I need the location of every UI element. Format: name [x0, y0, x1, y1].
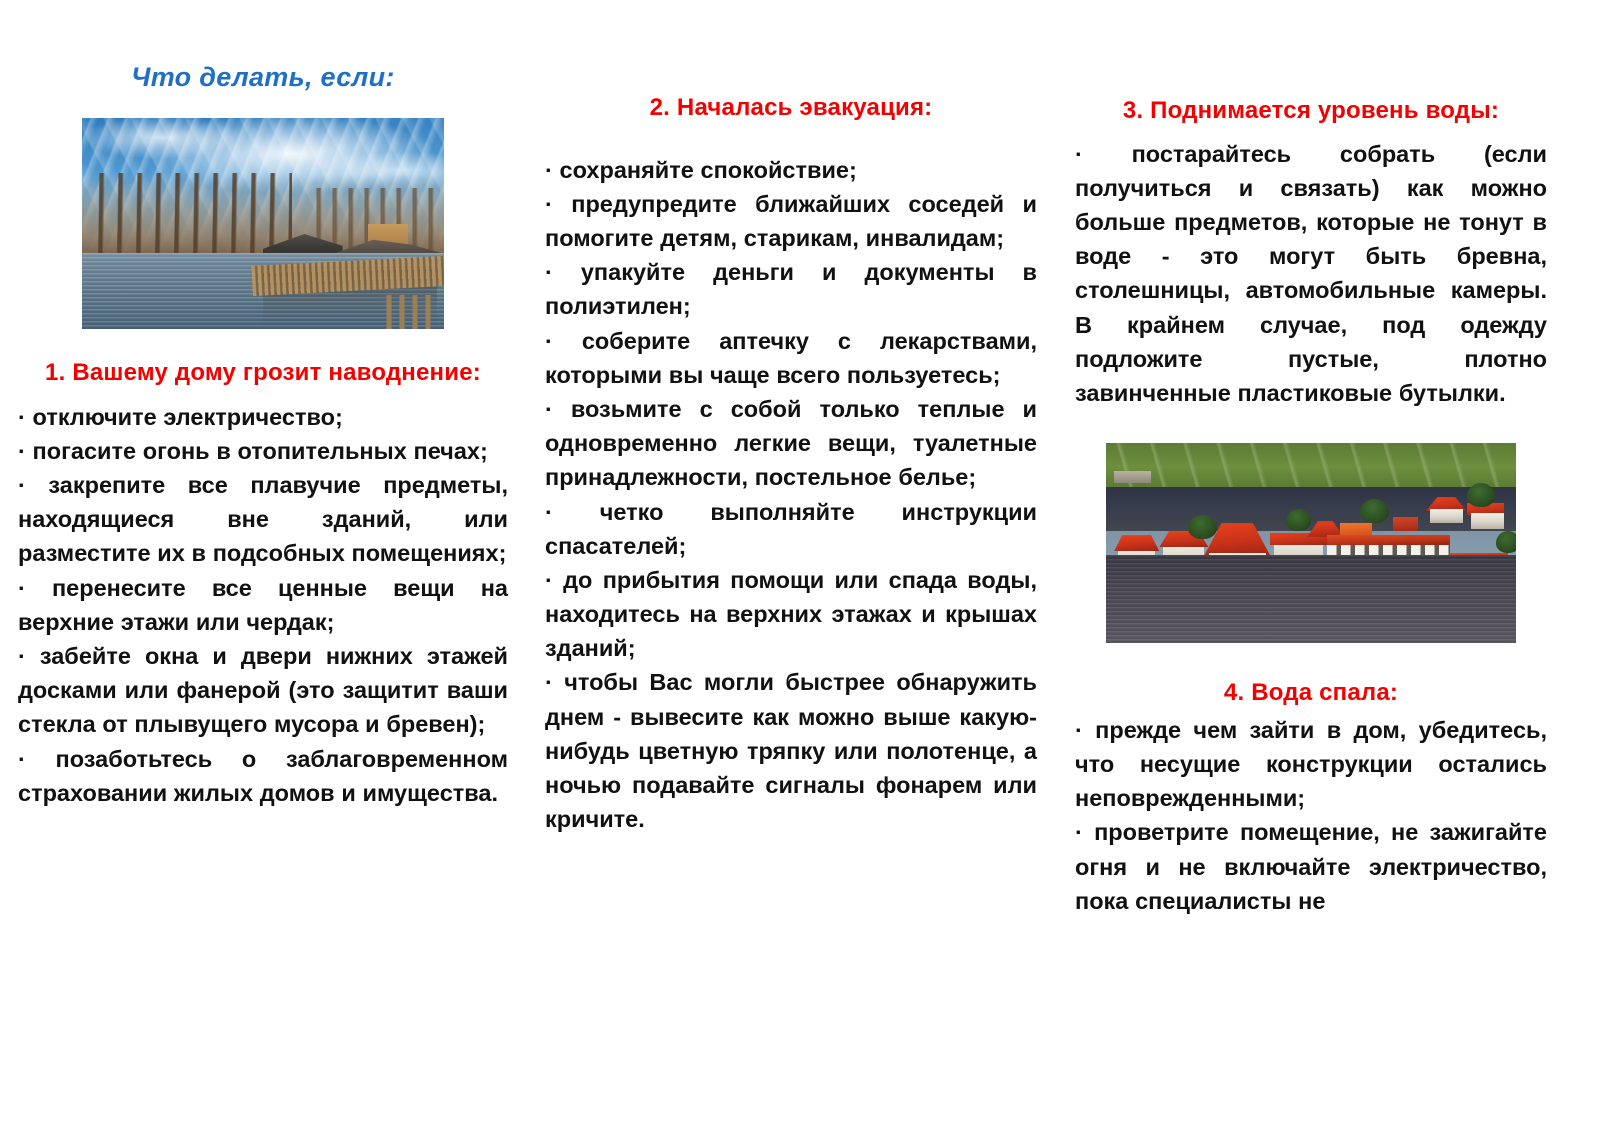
brochure-title: Что делать, если: — [18, 62, 508, 93]
photo1-tree-trunks-left — [86, 173, 292, 262]
list-item: · соберите аптечку с лекарствами, которы… — [545, 324, 1037, 392]
section-4-heading: 4. Вода спала: — [1075, 677, 1547, 709]
photo2-building-roof — [1393, 517, 1418, 531]
photo2-tree — [1360, 499, 1389, 523]
brochure-page: Что делать, если: 1. Вашему дому грозит … — [0, 0, 1600, 1131]
list-item: · чтобы Вас могли быстрее обнаружить дне… — [545, 665, 1037, 836]
section-3-list: · постарайтесь собрать (если получиться … — [1075, 137, 1547, 411]
list-item: · упакуйте деньги и документы в полиэтил… — [545, 255, 1037, 323]
section-1-list: · отключите электричество; · погасите ог… — [18, 400, 508, 810]
list-item: · перенесите все ценные вещи на верхние … — [18, 571, 508, 639]
photo2-tree — [1286, 509, 1311, 531]
list-item: · сохраняйте спокойствие; — [545, 153, 1037, 187]
flooded-riverside-village-photo — [82, 118, 444, 329]
list-item: · забейте окна и двери нижних этажей дос… — [18, 639, 508, 742]
list-item: · прежде чем зайти в дом, убедитесь, что… — [1075, 713, 1547, 816]
section-1-heading: 1. Вашему дому грозит наводнение: — [18, 357, 508, 389]
section-2-heading: 2. Началась эвакуация: — [545, 92, 1037, 124]
column-three: 3. Поднимается уровень воды: · постарайт… — [1075, 0, 1547, 918]
photo2-tree — [1496, 531, 1517, 553]
page-bottom-margin — [0, 1105, 1600, 1131]
photo2-water-ripples — [1106, 555, 1516, 643]
photo2-tree — [1188, 515, 1217, 539]
aerial-flooded-town-photo — [1106, 443, 1516, 643]
section-3-heading: 3. Поднимается уровень воды: — [1075, 95, 1547, 127]
list-item: · постарайтесь собрать (если получиться … — [1075, 137, 1547, 411]
list-item: · возьмите с собой только теплые и однов… — [545, 392, 1037, 495]
photo2-tree — [1467, 483, 1496, 507]
list-item: · предупредите ближайших соседей и помог… — [545, 187, 1037, 255]
column-one: Что делать, если: 1. Вашему дому грозит … — [18, 0, 508, 810]
photo2-building-wall — [1471, 513, 1504, 529]
photo1-posts — [379, 295, 437, 329]
photo2-far-structure — [1114, 471, 1151, 483]
list-item: · закрепите все плавучие предметы, наход… — [18, 468, 508, 571]
list-item: · проветрите помещение, не зажигайте огн… — [1075, 815, 1547, 918]
list-item: · отключите электричество; — [18, 400, 508, 434]
photo2-longblock-roof — [1327, 535, 1450, 545]
list-item: · до прибытия помощи или спада воды, нах… — [545, 563, 1037, 666]
photo2-building-wall — [1430, 509, 1463, 523]
list-item: · четко выполняйте инструкции спасателей… — [545, 495, 1037, 563]
column-two: 2. Началась эвакуация: · сохраняйте спок… — [545, 0, 1037, 836]
list-item: · позаботьтесь о заблаговременном страхо… — [18, 742, 508, 810]
list-item: · погасите огонь в отопительных печах; — [18, 434, 508, 468]
section-4-list: · прежде чем зайти в дом, убедитесь, что… — [1075, 713, 1547, 918]
section-2-list: · сохраняйте спокойствие; · предупредите… — [545, 153, 1037, 837]
